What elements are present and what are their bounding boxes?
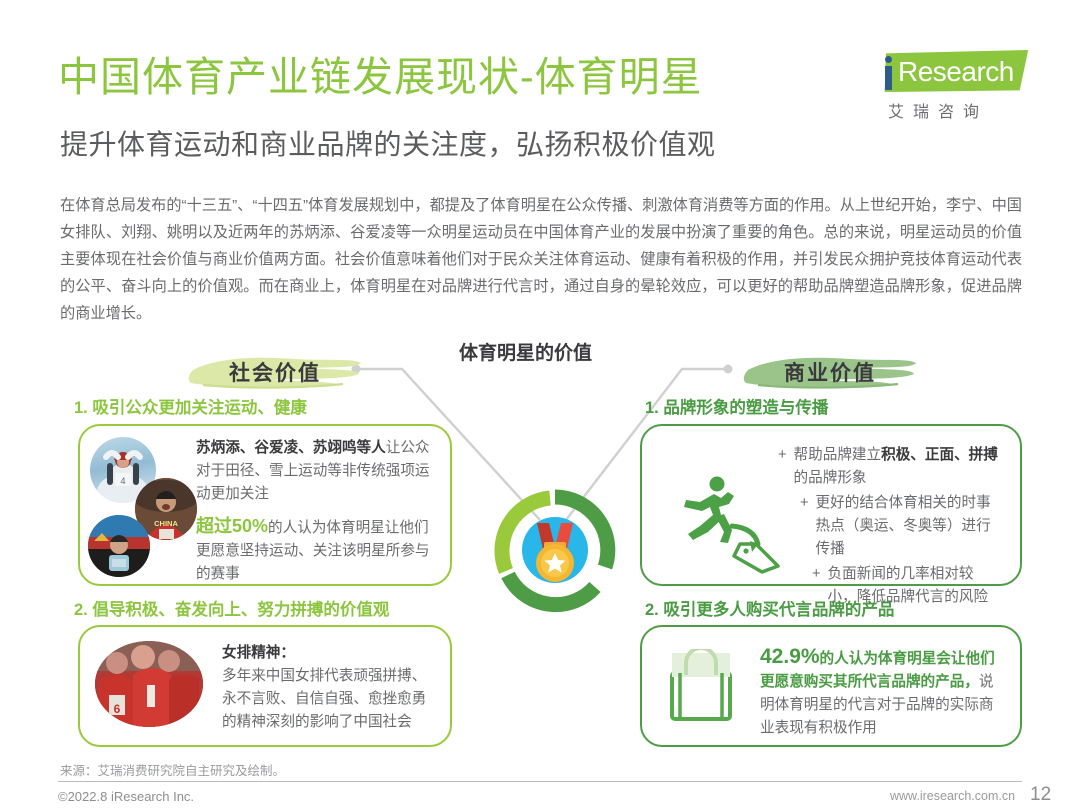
iresearch-logo: Research 艾瑞咨询: [862, 50, 1027, 122]
bullet-text-post: 的品牌形象: [794, 470, 867, 486]
logo-i-dot-icon: [885, 56, 892, 63]
commercial-card-2-stat: 42.9%: [760, 645, 820, 668]
social-card-2-title: 女排精神：: [222, 645, 295, 661]
website-url: www.iresearch.com.cn: [890, 789, 1015, 803]
medal-icon: [492, 487, 618, 613]
social-card-2-text: 女排精神： 多年来中国女排代表顽强拼搏、永不言败、自信自强、愈挫愈勇的精神深刻的…: [222, 642, 438, 734]
bullet-text-bold: 积极、正面、拼搏: [881, 447, 998, 463]
bullet-text: 负面新闻的几率相对较小，降低品牌代言的风险: [828, 563, 1002, 609]
slide-root: 中国体育产业链发展现状-体育明星 提升体育运动和商业品牌的关注度，弘扬积极价值观…: [0, 0, 1080, 810]
svg-text:4: 4: [120, 476, 125, 486]
commercial-card-2: 42.9%的人认为体育明星会让他们更愿意购买其所代言品牌的产品，说明体育明星的代…: [640, 625, 1022, 747]
bullet-text: 更好的结合体育相关的时事热点（奥运、冬奥等）进行传播: [816, 492, 1002, 561]
price-tag-icon: [726, 522, 784, 574]
center-title: 体育明星的价值: [459, 338, 592, 365]
social-value-header: 社会价值: [185, 352, 365, 392]
social-card-1-stat: 超过50%: [196, 516, 268, 536]
bullet-marker: +: [778, 444, 787, 490]
bullet-item: + 更好的结合体育相关的时事热点（奥运、冬奥等）进行传播: [800, 492, 1002, 561]
logo-wordmark: Research: [898, 56, 1014, 88]
bullet-marker: +: [812, 563, 821, 609]
footer-divider: [58, 781, 1022, 782]
page-subtitle: 提升体育运动和商业品牌的关注度，弘扬积极价值观: [60, 128, 716, 162]
bullet-item: + 帮助品牌建立积极、正面、拼搏的品牌形象: [778, 444, 1002, 490]
logo-i-stem-icon: [885, 66, 892, 90]
source-note: 来源：艾瑞消费研究院自主研究及绘制。: [60, 760, 285, 779]
photo-gu-ailing: [88, 515, 150, 577]
commercial-section-1-label: 1. 品牌形象的塑造与传播: [645, 394, 828, 418]
social-card-1-paragraph-1: 苏炳添、谷爱凌、苏翊鸣等人让公众对于田径、雪上运动等非传统强项运动更加关注: [196, 437, 436, 506]
page-title: 中国体育产业链发展现状-体育明星: [58, 53, 703, 101]
bullet-item: + 负面新闻的几率相对较小，降低品牌代言的风险: [812, 563, 1002, 609]
svg-text:6: 6: [114, 702, 121, 716]
bullet-marker: +: [800, 492, 809, 561]
commercial-value-header-label: 商业价值: [740, 352, 920, 392]
social-card-1-paragraph-2: 超过50%的人认为体育明星让他们更愿意坚持运动、关注该明星所参与的赛事: [196, 515, 436, 586]
social-section-1-label: 1. 吸引公众更加关注运动、健康: [74, 394, 307, 418]
svg-text:CHINA: CHINA: [154, 519, 178, 528]
social-card-2-body: 多年来中国女排代表顽强拼搏、永不言败、自信自强、愈挫愈勇的精神深刻的影响了中国社…: [222, 668, 426, 730]
social-card-1-bold-names: 苏炳添、谷爱凌、苏翊鸣等人: [196, 440, 386, 456]
copyright-text: ©2022.8 iResearch Inc.: [58, 789, 194, 804]
page-number: 12: [1030, 784, 1051, 806]
commercial-card-1-bullets: + 帮助品牌建立积极、正面、拼搏的品牌形象 + 更好的结合体育相关的时事热点（奥…: [778, 444, 1002, 611]
bullet-text-pre: 帮助品牌建立: [794, 447, 882, 463]
logo-chinese-name: 艾瑞咨询: [888, 98, 1026, 122]
bullet-text: 帮助品牌建立积极、正面、拼搏的品牌形象: [794, 444, 1002, 490]
shopping-bag-icon: [666, 649, 736, 723]
commercial-value-header: 商业价值: [740, 352, 920, 392]
photo-womens-volleyball: 6: [95, 641, 203, 727]
social-value-header-label: 社会价值: [185, 352, 365, 392]
commercial-card-1: + 帮助品牌建立积极、正面、拼搏的品牌形象 + 更好的结合体育相关的时事热点（奥…: [640, 424, 1022, 586]
social-section-2-label: 2. 倡导积极、奋发向上、努力拼搏的价值观: [74, 596, 389, 620]
commercial-card-2-text: 42.9%的人认为体育明星会让他们更愿意购买其所代言品牌的产品，说明体育明星的代…: [760, 645, 1004, 740]
intro-paragraph: 在体育总局发布的“十三五”、“十四五”体育发展规划中，都提及了体育明星在公众传播…: [60, 192, 1022, 327]
